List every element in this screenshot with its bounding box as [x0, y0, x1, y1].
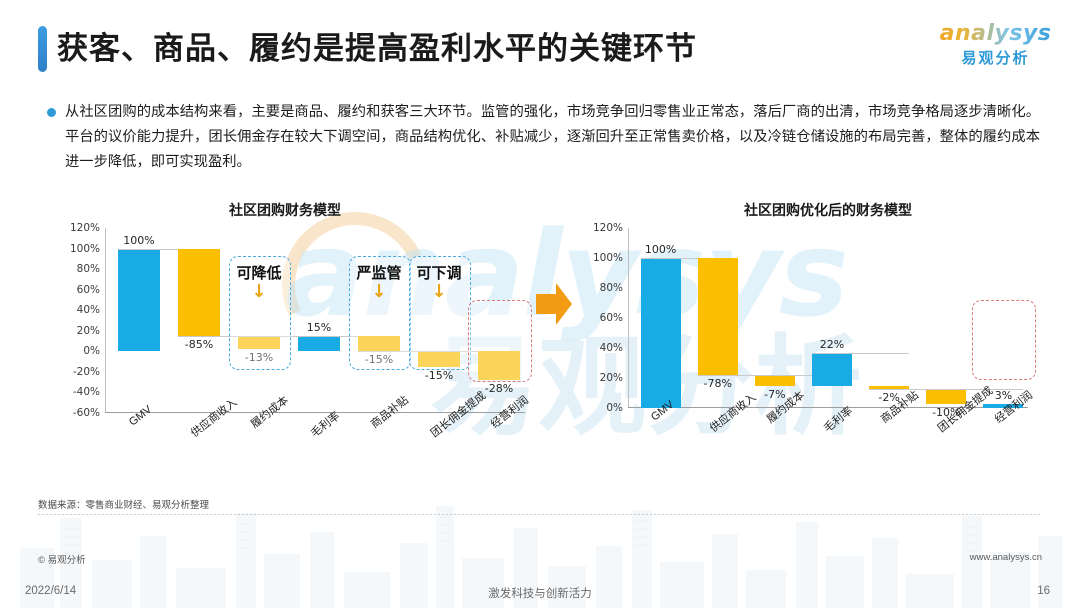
- y-axis-tick-label: 0%: [83, 345, 100, 357]
- brand-logo-cn: 易观分析: [933, 47, 1058, 68]
- footer-slogan: 激发科技与创新活力: [488, 585, 592, 601]
- y-axis-tick-label: 80%: [77, 263, 100, 275]
- bar-value-label: 15%: [307, 321, 331, 334]
- chart-community-group-buying-financial-model: 社区团购财务模型 120%100%80%60%40%20%0%-20%-40%-…: [60, 200, 530, 480]
- y-axis-tick-label: 20%: [77, 325, 100, 337]
- bar-value-label: -78%: [703, 377, 731, 390]
- chart-title-right: 社区团购优化后的财务模型: [688, 200, 968, 220]
- down-arrow-icon: ↓: [251, 283, 266, 301]
- bar-value-label: -15%: [425, 369, 453, 382]
- right-arrow-icon: [534, 280, 574, 328]
- annotation-label: 严监管: [356, 262, 401, 283]
- y-axis-tick-label: 100%: [593, 252, 623, 264]
- bar-毛利率: [812, 353, 852, 386]
- y-axis-tick-label: 80%: [600, 282, 623, 294]
- y-axis-tick-label: 40%: [77, 304, 100, 316]
- website-text: www.analysys.cn: [970, 552, 1042, 563]
- bar-value-label: 100%: [645, 243, 676, 256]
- bar-value-label: -85%: [185, 338, 213, 351]
- bullet-dot-icon: [47, 108, 56, 117]
- annotation-label: 可降低: [236, 262, 281, 283]
- copyright-text: © 易观分析: [38, 552, 86, 566]
- bar-value-label: 100%: [123, 234, 154, 247]
- bar-GMV: [641, 258, 681, 408]
- y-axis-tick-label: -20%: [73, 366, 100, 378]
- y-axis: [628, 228, 629, 408]
- footer-page-number: 16: [1037, 585, 1050, 597]
- y-axis-tick-label: 60%: [77, 284, 100, 296]
- y-axis-tick-label: 100%: [70, 243, 100, 255]
- y-axis: [105, 228, 106, 413]
- bar-毛利率: [298, 336, 340, 351]
- page-title: 获客、商品、履约是提高盈利水平的关键环节: [57, 23, 697, 68]
- footer-divider: [38, 514, 1042, 515]
- chart-title-left: 社区团购财务模型: [175, 200, 395, 220]
- annotation-box-经营利润: [972, 300, 1036, 380]
- bar-供应商收入: [698, 258, 738, 375]
- bar-GMV: [118, 249, 160, 352]
- down-arrow-icon: ↓: [431, 283, 446, 301]
- y-axis-tick-label: 120%: [593, 222, 623, 234]
- annotation-box-经营利润: [468, 300, 532, 382]
- bar-履约成本: [755, 375, 795, 386]
- waterfall-connector: [812, 353, 909, 354]
- y-axis-tick-label: 0%: [606, 402, 623, 414]
- y-axis-tick-label: 20%: [600, 372, 623, 384]
- down-arrow-icon: ↓: [371, 283, 386, 301]
- annotation-label: 可下调: [416, 262, 461, 283]
- chart-optimized-financial-model: 社区团购优化后的财务模型 120%100%80%60%40%20%0%100%-…: [578, 200, 1048, 480]
- y-axis-tick-label: -60%: [73, 407, 100, 419]
- y-axis-tick-label: 120%: [70, 222, 100, 234]
- y-axis-tick-label: -40%: [73, 386, 100, 398]
- bar-供应商收入: [178, 249, 220, 336]
- bar-value-label: -28%: [485, 382, 513, 395]
- source-note: 数据来源：零售商业财经、易观分析整理: [38, 497, 209, 511]
- footer-date: 2022/6/14: [25, 585, 76, 597]
- body-paragraph: 从社区团购的成本结构来看，主要是商品、履约和获客三大环节。监管的强化，市场竞争回…: [65, 100, 1040, 175]
- title-accent-bar: [38, 26, 47, 72]
- slide: analysys 易观分析: [0, 0, 1080, 608]
- bar-value-label: 22%: [820, 338, 844, 351]
- y-axis-tick-label: 40%: [600, 342, 623, 354]
- y-axis-tick-label: 60%: [600, 312, 623, 324]
- brand-logo-en: analysys: [933, 22, 1058, 46]
- brand-logo: analysys 易观分析: [933, 22, 1058, 68]
